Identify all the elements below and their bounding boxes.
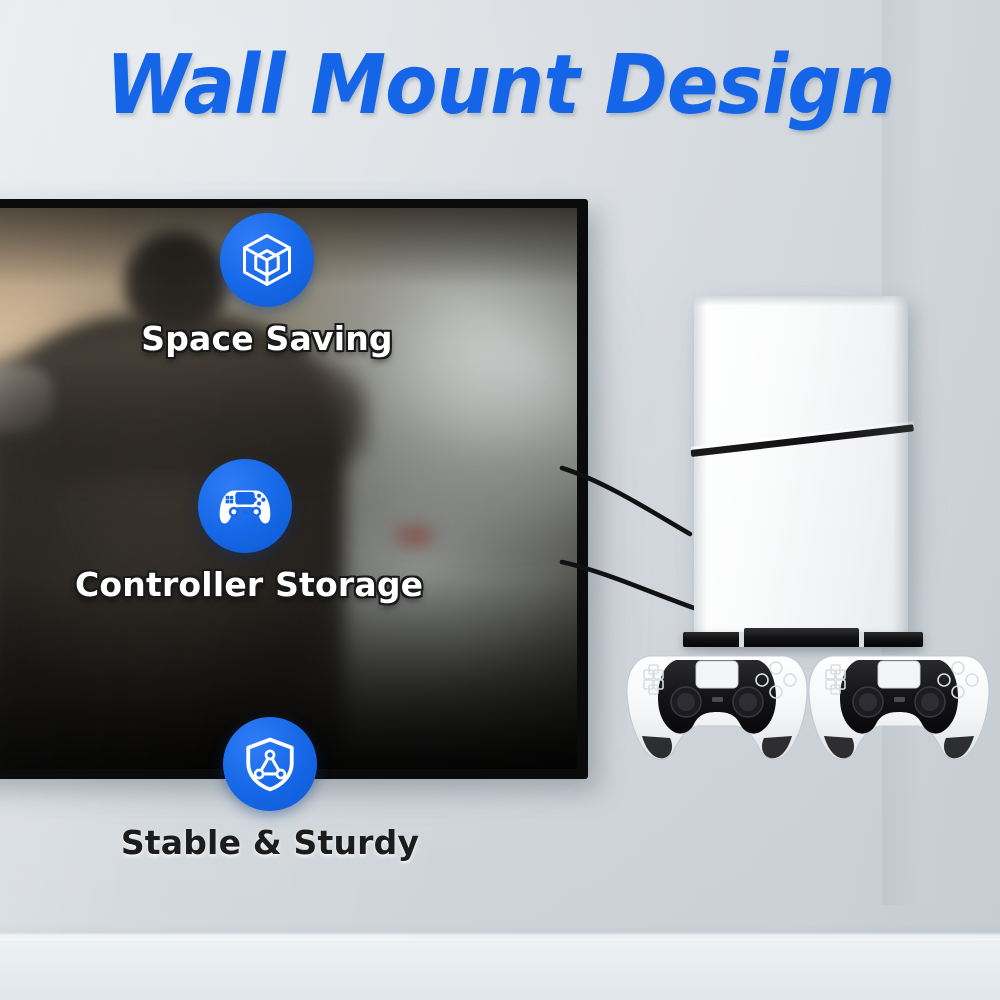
feature-controller-storage: Controller Storage (75, 459, 415, 604)
dualsense-controller-right (806, 640, 992, 768)
stable-sturdy-badge (223, 717, 317, 811)
feature-label-space-saving: Space Saving (97, 319, 437, 358)
ps5-console (694, 296, 908, 636)
console-left-edge (694, 296, 707, 636)
game-controller-icon (214, 475, 276, 537)
product-marketing-image: Wall Mount Design (0, 0, 1000, 1000)
feature-stable-sturdy: Stable & Sturdy (100, 717, 440, 862)
dualsense-controller-left (624, 640, 810, 768)
feature-label-stable-sturdy: Stable & Sturdy (100, 823, 440, 862)
controller-storage-badge (198, 459, 292, 553)
shield-network-icon (241, 735, 299, 793)
feature-label-controller-storage: Controller Storage (75, 565, 415, 604)
space-saving-badge (220, 213, 314, 307)
media-cabinet-top-edge (0, 934, 1000, 941)
console-diagonal-seam (691, 424, 914, 457)
media-cabinet (0, 938, 1000, 1000)
console-right-edge (882, 296, 908, 636)
feature-space-saving: Space Saving (97, 213, 437, 358)
cube-box-icon (237, 230, 297, 290)
console-top-edge (694, 296, 908, 306)
page-title: Wall Mount Design (35, 38, 965, 133)
